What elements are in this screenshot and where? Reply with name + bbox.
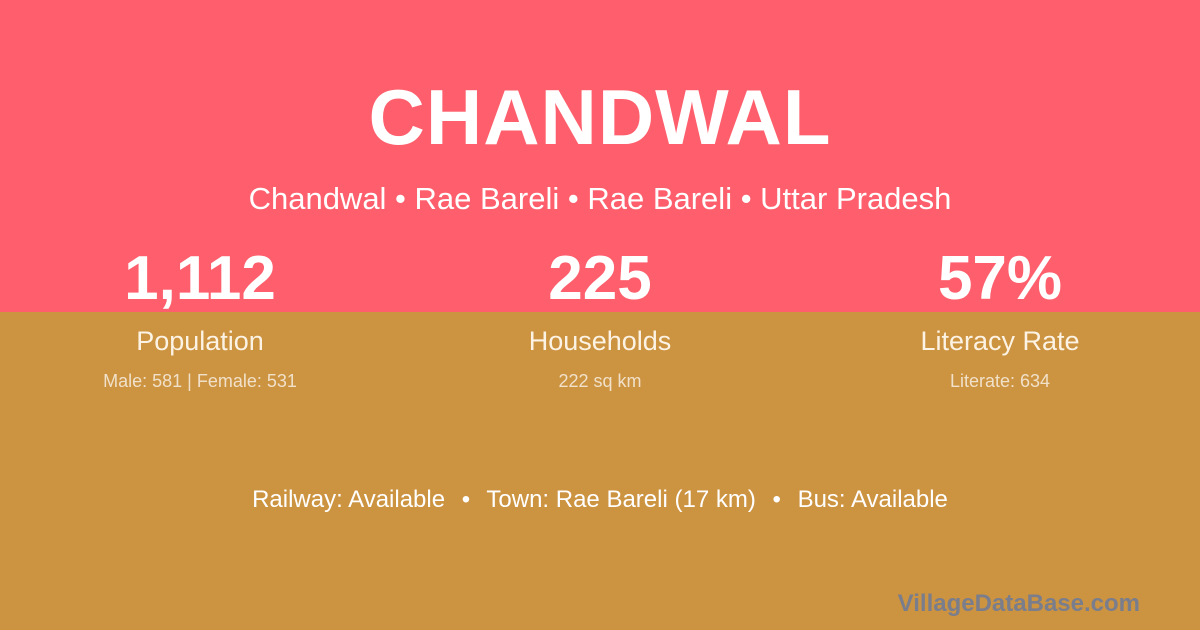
stat-literacy-count: Literate: 634 xyxy=(800,371,1200,392)
stat-households-area: 222 sq km xyxy=(400,371,800,392)
stat-population-label: Population xyxy=(0,326,400,357)
stats-row: 1,112 Population Male: 581 | Female: 531… xyxy=(0,248,1200,392)
stat-households-value: 225 xyxy=(400,248,800,310)
site-brand: VillageDataBase.com xyxy=(898,590,1140,619)
stat-literacy-value: 57% xyxy=(800,248,1200,310)
stat-households: 225 Households 222 sq km xyxy=(400,248,800,392)
amenities-line: Railway: Available • Town: Rae Bareli (1… xyxy=(0,486,1200,515)
stat-population: 1,112 Population Male: 581 | Female: 531 xyxy=(0,248,400,392)
page-title: CHANDWAL xyxy=(0,78,1200,156)
amenity-nearest-town: Town: Rae Bareli (17 km) xyxy=(486,486,755,513)
stat-households-label: Households xyxy=(400,326,800,357)
stat-literacy: 57% Literacy Rate Literate: 634 xyxy=(800,248,1200,392)
village-info-card: CHANDWAL Chandwal • Rae Bareli • Rae Bar… xyxy=(0,0,1200,630)
amenity-bus: Bus: Available xyxy=(798,486,948,513)
stat-population-value: 1,112 xyxy=(0,248,400,310)
amenity-separator-1: • xyxy=(452,486,480,513)
amenity-separator-2: • xyxy=(763,486,791,513)
amenity-railway: Railway: Available xyxy=(252,486,445,513)
stat-literacy-label: Literacy Rate xyxy=(800,326,1200,357)
breadcrumb: Chandwal • Rae Bareli • Rae Bareli • Utt… xyxy=(0,180,1200,219)
stat-population-breakdown: Male: 581 | Female: 531 xyxy=(0,371,400,392)
